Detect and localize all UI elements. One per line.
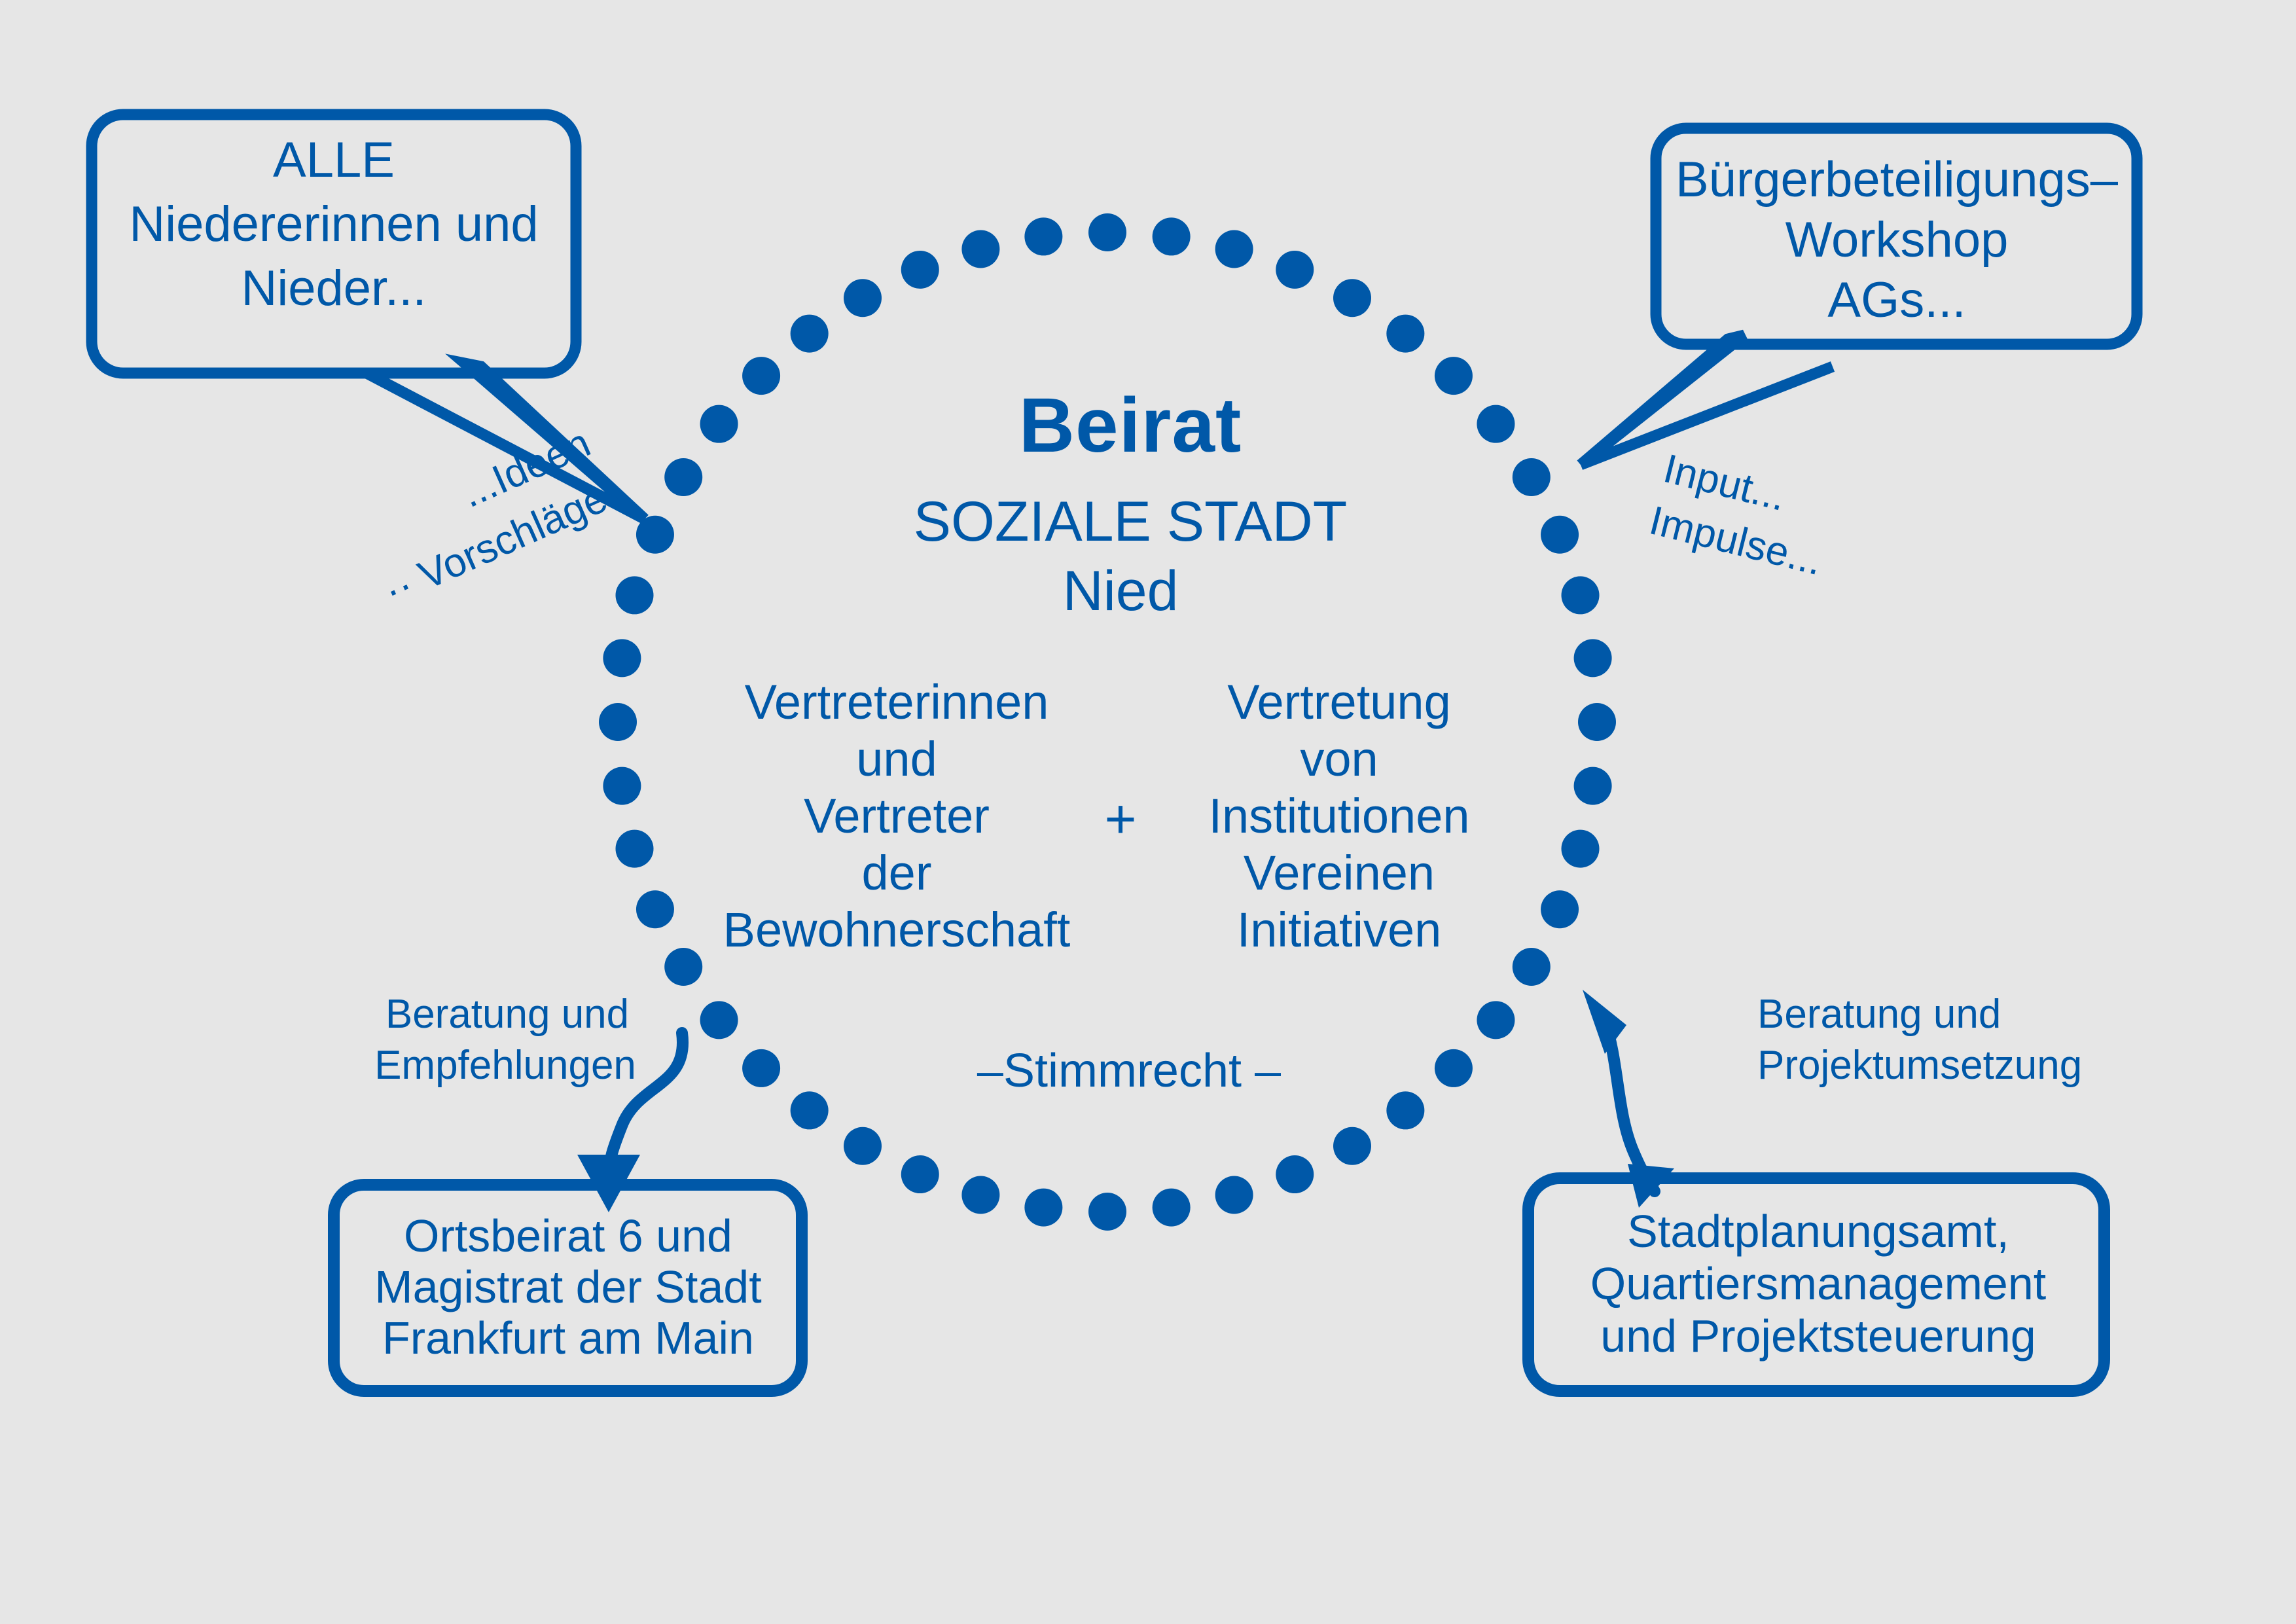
speech-bubble-participation-tail-leader [1581,367,1833,465]
circle-dot [1153,1189,1191,1227]
circle-dot [603,767,641,805]
circle-dot [1541,516,1579,554]
circle-dot [742,357,780,395]
center-right-line-1: Vertretung [1227,675,1450,729]
center-right-line-2: von [1300,732,1378,786]
circle-dot [1562,576,1600,614]
annotation-beratung-left-line-2: Empfehlungen [374,1043,636,1088]
circle-dot [901,1155,939,1193]
annotation-beratung-right-line-2: Projektumsetzung [1757,1043,2082,1088]
annotation-beratung-right-line-1: Beratung und [1757,992,2001,1037]
circle-dot [791,315,829,353]
circle-dot [615,830,653,868]
circle-dot [700,405,738,443]
box-ortsbeirat-line-1: Ortsbeirat 6 und [404,1210,732,1261]
annotation-beratung-left-line-1: Beratung und [386,992,629,1037]
circle-dot [1574,767,1612,805]
circle-dot [742,1049,780,1087]
circle-dot [1386,1091,1424,1129]
circle-dot [1088,1193,1126,1231]
speech-bubble-residents-line-1: ALLE [273,132,395,188]
center-left-line-4: der [862,846,932,900]
circle-dot [1435,1049,1473,1087]
speech-bubble-participation-tail [1581,335,1744,465]
circle-dot [1024,1189,1062,1227]
circle-dot [961,1176,999,1214]
circle-dot [1153,217,1191,255]
center-left-line-1: Vertreterinnen [745,675,1049,729]
circle-dot [791,1091,829,1129]
annotation-input-impulse: Input... Impulse... [1645,446,1840,585]
diagram-canvas: Beirat SOZIALE STADT Nied Vertreterinnen… [0,0,2296,1624]
arrow-stadtplanungsamt-head-down [1628,1164,1674,1208]
circle-dot [844,1127,882,1165]
annotation-beratung-projektumsetzung: Beratung und Projektumsetzung [1757,992,2082,1088]
circle-dot [636,890,674,928]
circle-dot [1215,230,1253,268]
circle-dot [844,279,882,317]
circle-dot [1333,1127,1371,1165]
annotation-input-line-2: Impulse... [1645,497,1827,584]
circle-dot [1024,217,1062,255]
circle-dot [1386,315,1424,353]
beirat-diagram: Beirat SOZIALE STADT Nied Vertreterinnen… [0,0,2296,1624]
circle-dot [1088,213,1126,251]
box-ortsbeirat-line-3: Frankfurt am Main [382,1312,754,1363]
stimmrecht-note: –Stimmrecht – [977,1045,1282,1097]
center-heading: Beirat [1019,382,1242,469]
circle-dot [1215,1176,1253,1214]
center-place: Nied [1063,560,1179,623]
annotation-ideen-vorschlaege: ...Ideen ·· Vorschläge [353,420,620,614]
circle-dot [1513,458,1551,496]
center-left-line-3: Vertreter [804,789,990,843]
circle-dot [603,639,641,677]
center-left-line-5: Bewohnerschaft [723,903,1071,957]
speech-bubble-participation-line-2: Workshop [1785,212,2009,268]
box-stadtplanungsamt-line-2: Quartiersmanagement [1590,1258,2046,1309]
circle-dot [1513,948,1551,986]
arrow-stadtplanungsamt-head-up [1583,990,1626,1054]
center-left-line-2: und [856,732,937,786]
speech-bubble-participation[interactable]: Bürgerbeteiligungs– Workshop AGs... [1581,128,2137,465]
box-stadtplanungsamt[interactable]: Stadtplanungsamt, Quartiersmanagement un… [1528,1178,2104,1391]
box-ortsbeirat-line-2: Magistrat der Stadt [374,1261,761,1312]
circle-dot [1477,405,1515,443]
circle-dot [599,703,637,741]
box-ortsbeirat-magistrat[interactable]: Ortsbeirat 6 und Magistrat der Stadt Fra… [334,1185,802,1391]
circle-dot [664,458,702,496]
circle-dot [1276,1155,1314,1193]
circle-dot [1574,639,1612,677]
plus-sign: + [1104,788,1136,850]
center-right-line-5: Initiativen [1237,903,1442,957]
speech-bubble-residents-line-3: Nieder... [241,261,426,316]
circle-dot [1541,890,1579,928]
speech-bubble-residents-line-2: Niedererinnen und [129,196,538,252]
circle-dot [1477,1001,1515,1039]
center-right-line-3: Institutionen [1208,789,1469,843]
box-stadtplanungsamt-line-3: und Projektsteuerung [1600,1310,2036,1362]
center-right-line-4: Vereinen [1244,846,1435,900]
speech-bubble-participation-line-3: AGs... [1827,272,1965,328]
speech-bubble-participation-line-1: Bürgerbeteiligungs– [1676,152,2119,208]
circle-dot [615,576,653,614]
circle-dot [901,251,939,289]
circle-dot [700,1001,738,1039]
circle-dot [961,230,999,268]
annotation-beratung-empfehlungen: Beratung und Empfehlungen [374,992,636,1088]
circle-dot [1562,830,1600,868]
box-stadtplanungsamt-line-1: Stadtplanungsamt, [1627,1206,2009,1257]
circle-dot [1333,279,1371,317]
circle-dot [1578,703,1616,741]
circle-dot [664,948,702,986]
circle-dot [1276,251,1314,289]
circle-dot [1435,357,1473,395]
center-subheading: SOZIALE STADT [914,490,1348,553]
